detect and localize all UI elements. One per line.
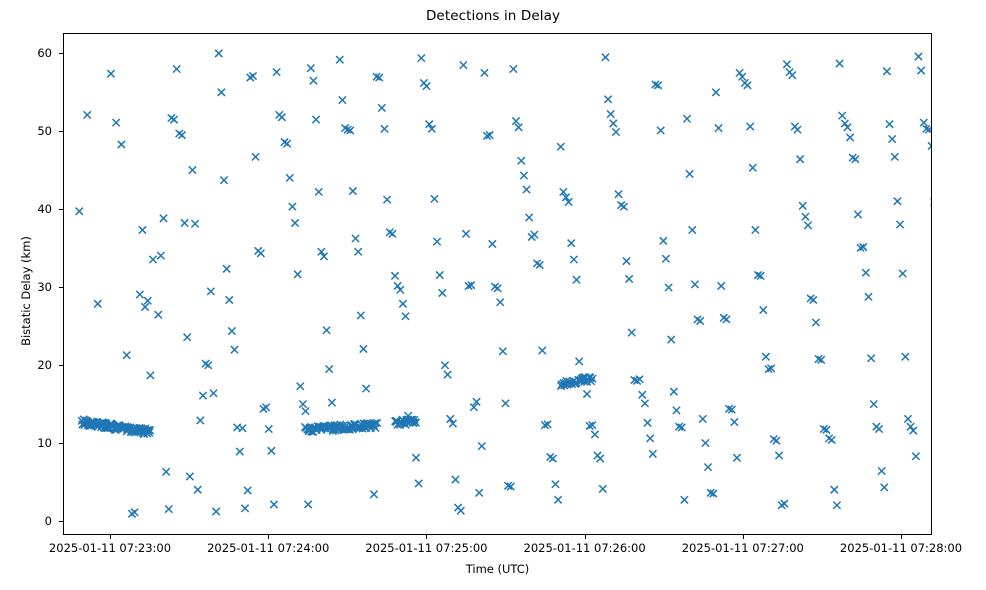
scatter-marker (315, 188, 322, 195)
x-tick-label: 2025-01-11 07:26:00 (524, 541, 646, 555)
scatter-marker (539, 347, 546, 354)
scatter-marker (762, 353, 769, 360)
scatter-marker (846, 134, 853, 141)
y-tick-mark (59, 365, 63, 366)
scatter-marker (147, 372, 154, 379)
scatter-marker (775, 452, 782, 459)
scatter-marker (704, 463, 711, 470)
scatter-marker (715, 124, 722, 131)
scatter-marker (836, 60, 843, 67)
scatter-marker (773, 437, 780, 444)
scatter-marker (231, 346, 238, 353)
scatter-marker (415, 480, 422, 487)
scatter-marker (610, 120, 617, 127)
scatter-marker (173, 65, 180, 72)
scatter-marker (604, 96, 611, 103)
scatter-marker (628, 329, 635, 336)
scatter-marker (639, 391, 646, 398)
scatter-marker (878, 467, 885, 474)
scatter-marker (839, 112, 846, 119)
scatter-marker (899, 270, 906, 277)
scatter-marker (462, 230, 469, 237)
scatter-marker (228, 327, 235, 334)
scatter-marker (197, 417, 204, 424)
scatter-marker (436, 271, 443, 278)
scatter-marker (160, 215, 167, 222)
scatter-marker (499, 348, 506, 355)
scatter-marker (870, 401, 877, 408)
scatter-marker (265, 425, 272, 432)
scatter-marker (731, 418, 738, 425)
scatter-marker (199, 392, 206, 399)
scatter-marker (549, 455, 556, 462)
scatter-marker (412, 454, 419, 461)
scatter-points-layer (64, 34, 931, 534)
scatter-marker (647, 435, 654, 442)
scatter-marker (399, 300, 406, 307)
scatter-marker (165, 505, 172, 512)
scatter-marker (510, 65, 517, 72)
scatter-marker (852, 156, 859, 163)
scatter-marker (84, 111, 91, 118)
scatter-marker (107, 70, 114, 77)
scatter-marker (665, 284, 672, 291)
scatter-marker (907, 423, 914, 430)
scatter-marker (752, 226, 759, 233)
scatter-marker (833, 502, 840, 509)
scatter-marker (136, 291, 143, 298)
y-axis-label: Bistatic Delay (km) (19, 161, 33, 421)
scatter-marker (489, 240, 496, 247)
scatter-marker (460, 61, 467, 68)
scatter-marker (831, 486, 838, 493)
scatter-marker (636, 376, 643, 383)
scatter-marker (155, 311, 162, 318)
scatter-marker (912, 453, 919, 460)
scatter-marker (431, 195, 438, 202)
scatter-marker (118, 141, 125, 148)
scatter-marker (915, 53, 922, 60)
scatter-marker (339, 96, 346, 103)
scatter-marker (191, 220, 198, 227)
scatter-marker (326, 366, 333, 373)
scatter-marker (799, 202, 806, 209)
scatter-marker (662, 255, 669, 262)
scatter-marker (349, 187, 356, 194)
scatter-marker (139, 226, 146, 233)
scatter-marker (181, 219, 188, 226)
scatter-marker (573, 276, 580, 283)
scatter-marker (736, 69, 743, 76)
scatter-marker (883, 68, 890, 75)
scatter-marker (570, 256, 577, 263)
scatter-marker (615, 191, 622, 198)
scatter-marker (894, 198, 901, 205)
scatter-marker (518, 157, 525, 164)
scatter-marker (523, 186, 530, 193)
scatter-marker (305, 501, 312, 508)
scatter-marker (257, 250, 264, 257)
scatter-svg (64, 34, 931, 534)
scatter-marker (828, 436, 835, 443)
scatter-marker (352, 235, 359, 242)
scatter-marker (244, 487, 251, 494)
scatter-marker (284, 140, 291, 147)
scatter-marker (494, 285, 501, 292)
scatter-marker (881, 484, 888, 491)
y-tick-mark (59, 131, 63, 132)
x-tick-mark (901, 535, 902, 539)
scatter-marker (917, 67, 924, 74)
scatter-marker (383, 196, 390, 203)
scatter-marker (760, 306, 767, 313)
scatter-marker (423, 82, 430, 89)
scatter-marker (241, 505, 248, 512)
scatter-marker (625, 275, 632, 282)
scatter-marker (439, 289, 446, 296)
scatter-marker (531, 231, 538, 238)
scatter-marker (649, 450, 656, 457)
scatter-marker (891, 153, 898, 160)
x-tick-mark (585, 535, 586, 539)
scatter-marker (575, 358, 582, 365)
scatter-marker (189, 166, 196, 173)
scatter-marker (875, 425, 882, 432)
scatter-marker (520, 172, 527, 179)
x-tick-label: 2025-01-11 07:25:00 (365, 541, 487, 555)
x-tick-label: 2025-01-11 07:23:00 (49, 541, 171, 555)
scatter-marker (583, 390, 590, 397)
scatter-marker (889, 135, 896, 142)
scatter-marker (162, 468, 169, 475)
scatter-marker (802, 213, 809, 220)
scatter-marker (113, 119, 120, 126)
scatter-marker (194, 486, 201, 493)
y-tick-mark (59, 287, 63, 288)
x-axis-label: Time (UTC) (63, 562, 932, 576)
scatter-marker (502, 400, 509, 407)
scatter-marker (841, 120, 848, 127)
scatter-marker (699, 415, 706, 422)
scatter-marker (683, 115, 690, 122)
scatter-marker (262, 404, 269, 411)
scatter-marker (702, 439, 709, 446)
scatter-marker (223, 265, 230, 272)
scatter-marker (783, 61, 790, 68)
scatter-marker (902, 353, 909, 360)
scatter-marker (910, 427, 917, 434)
scatter-marker (660, 237, 667, 244)
figure-canvas: Detections in Delay 2025-01-11 07:23:002… (0, 0, 986, 590)
scatter-marker (810, 296, 817, 303)
y-tick-label: 50 (0, 124, 52, 138)
scatter-marker (360, 345, 367, 352)
scatter-marker (657, 127, 664, 134)
scatter-marker (378, 104, 385, 111)
scatter-marker (212, 508, 219, 515)
scatter-marker (236, 448, 243, 455)
scatter-marker (526, 214, 533, 221)
page-title: Detections in Delay (0, 8, 986, 24)
scatter-marker (681, 496, 688, 503)
scatter-marker (867, 355, 874, 362)
scatter-marker (602, 54, 609, 61)
scatter-marker (289, 203, 296, 210)
scatter-marker (249, 72, 256, 79)
scatter-marker (746, 123, 753, 130)
scatter-marker (794, 126, 801, 133)
scatter-marker (312, 116, 319, 123)
scatter-marker (170, 116, 177, 123)
scatter-marker (76, 208, 83, 215)
scatter-marker (623, 257, 630, 264)
scatter-marker (691, 281, 698, 288)
y-tick-label: 10 (0, 436, 52, 450)
scatter-marker (357, 312, 364, 319)
scatter-marker (712, 89, 719, 96)
scatter-marker (210, 390, 217, 397)
scatter-marker (389, 230, 396, 237)
scatter-marker (336, 56, 343, 63)
scatter-marker (612, 128, 619, 135)
plot-area (63, 33, 932, 535)
scatter-marker (94, 300, 101, 307)
scatter-marker (812, 319, 819, 326)
scatter-marker (886, 121, 893, 128)
scatter-marker (481, 69, 488, 76)
scatter-marker (689, 226, 696, 233)
scatter-marker (668, 336, 675, 343)
scatter-marker (591, 431, 598, 438)
scatter-marker (457, 507, 464, 514)
x-tick-label: 2025-01-11 07:27:00 (682, 541, 804, 555)
scatter-marker (673, 407, 680, 414)
scatter-marker (536, 261, 543, 268)
scatter-marker (299, 401, 306, 408)
x-tick-mark (268, 535, 269, 539)
y-tick-mark (59, 521, 63, 522)
scatter-marker (402, 313, 409, 320)
x-tick-label: 2025-01-11 07:28:00 (840, 541, 962, 555)
scatter-marker (865, 293, 872, 300)
scatter-marker (804, 222, 811, 229)
scatter-marker (291, 219, 298, 226)
scatter-marker (273, 68, 280, 75)
scatter-marker (597, 455, 604, 462)
scatter-marker (644, 419, 651, 426)
scatter-marker (896, 221, 903, 228)
y-tick-label: 60 (0, 46, 52, 60)
scatter-marker (239, 425, 246, 432)
scatter-marker (476, 489, 483, 496)
scatter-marker (123, 352, 130, 359)
scatter-marker (370, 491, 377, 498)
scatter-marker (215, 50, 222, 57)
scatter-marker (552, 481, 559, 488)
scatter-marker (686, 170, 693, 177)
scatter-marker (131, 509, 138, 516)
y-tick-mark (59, 53, 63, 54)
scatter-marker (433, 238, 440, 245)
scatter-marker (697, 317, 704, 324)
scatter-marker (205, 362, 212, 369)
y-tick-mark (59, 443, 63, 444)
scatter-marker (844, 124, 851, 131)
scatter-marker (328, 399, 335, 406)
scatter-marker (220, 177, 227, 184)
scatter-marker (497, 299, 504, 306)
scatter-marker (323, 327, 330, 334)
scatter-marker (444, 371, 451, 378)
scatter-marker (607, 110, 614, 117)
scatter-marker (278, 114, 285, 121)
scatter-marker (297, 383, 304, 390)
scatter-marker (218, 89, 225, 96)
scatter-marker (391, 272, 398, 279)
scatter-marker (286, 174, 293, 181)
x-tick-label: 2025-01-11 07:24:00 (207, 541, 329, 555)
scatter-marker (641, 400, 648, 407)
scatter-marker (670, 388, 677, 395)
scatter-marker (796, 156, 803, 163)
scatter-marker (568, 240, 575, 247)
x-tick-mark (743, 535, 744, 539)
x-tick-mark (426, 535, 427, 539)
scatter-marker (557, 143, 564, 150)
scatter-marker (294, 271, 301, 278)
scatter-marker (381, 125, 388, 132)
scatter-marker (302, 408, 309, 415)
scatter-marker (554, 496, 561, 503)
scatter-marker (744, 82, 751, 89)
scatter-marker (149, 256, 156, 263)
scatter-marker (362, 385, 369, 392)
scatter-marker (789, 72, 796, 79)
y-tick-label: 0 (0, 514, 52, 528)
y-tick-mark (59, 209, 63, 210)
scatter-marker (620, 203, 627, 210)
scatter-marker (904, 415, 911, 422)
scatter-marker (478, 442, 485, 449)
scatter-marker (226, 296, 233, 303)
scatter-marker (207, 288, 214, 295)
scatter-marker (178, 131, 185, 138)
scatter-marker (441, 362, 448, 369)
scatter-marker (862, 269, 869, 276)
scatter-marker (723, 316, 730, 323)
scatter-marker (252, 153, 259, 160)
scatter-marker (397, 286, 404, 293)
scatter-marker (781, 500, 788, 507)
scatter-marker (749, 164, 756, 171)
scatter-marker (270, 501, 277, 508)
scatter-marker (310, 77, 317, 84)
x-tick-mark (110, 535, 111, 539)
scatter-marker (355, 248, 362, 255)
scatter-marker (157, 252, 164, 259)
scatter-marker (186, 473, 193, 480)
scatter-marker (268, 447, 275, 454)
scatter-marker (599, 485, 606, 492)
scatter-marker (854, 211, 861, 218)
scatter-marker (418, 54, 425, 61)
scatter-marker (184, 334, 191, 341)
scatter-marker (718, 282, 725, 289)
scatter-marker (394, 282, 401, 289)
scatter-marker (733, 454, 740, 461)
scatter-marker (452, 476, 459, 483)
scatter-marker (928, 142, 931, 149)
scatter-marker (307, 65, 314, 72)
